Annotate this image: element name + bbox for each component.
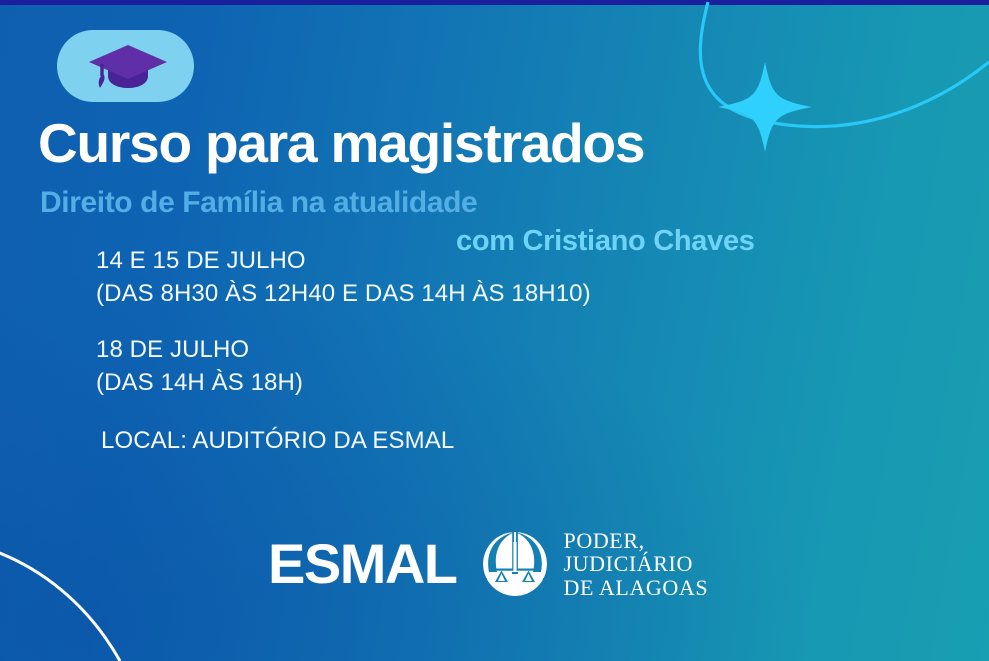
schedule-entry: 14 E 15 DE JULHO (DAS 8H30 ÀS 12H40 E DA… [96, 244, 591, 311]
graduation-cap-badge [57, 30, 194, 102]
page-subtitle: Direito de Família na atualidade [40, 186, 477, 220]
page-title: Curso para magistrados [38, 116, 644, 171]
schedule-dates: 14 E 15 DE JULHO [96, 244, 591, 277]
sparkle-star-icon [718, 62, 812, 152]
esmal-logo: ESMAL [268, 536, 457, 592]
white-arc-bottom-left [0, 548, 120, 661]
event-poster: Curso para magistrados Direito de Famíli… [0, 0, 989, 661]
pj-line-2: JUDICIÁRIO [564, 552, 709, 575]
top-accent-band [0, 0, 989, 5]
graduation-cap-icon [82, 38, 170, 94]
esmal-wordmark: ESMAL [268, 532, 457, 595]
poder-judiciario-wordmark: PODER, JUDICIÁRIO DE ALAGOAS [564, 529, 709, 599]
schedule-hours: (DAS 14H ÀS 18H) [96, 366, 591, 399]
scales-of-justice-icon [479, 528, 551, 600]
schedule-hours: (DAS 8H30 ÀS 12H40 E DAS 14H ÀS 18H10) [96, 277, 591, 310]
footer-logos: ESMAL [268, 528, 708, 600]
cyan-arc-top-right [700, 2, 989, 127]
schedule-list: 14 E 15 DE JULHO (DAS 8H30 ÀS 12H40 E DA… [96, 244, 591, 399]
pj-line-3: DE ALAGOAS [564, 576, 709, 599]
schedule-entry: 18 DE JULHO (DAS 14H ÀS 18H) [96, 333, 591, 400]
venue-location: LOCAL: AUDITÓRIO DA ESMAL [101, 427, 454, 455]
pj-line-1: PODER, [564, 529, 709, 552]
poder-judiciario-logo: PODER, JUDICIÁRIO DE ALAGOAS [479, 528, 709, 600]
schedule-dates: 18 DE JULHO [96, 333, 591, 366]
